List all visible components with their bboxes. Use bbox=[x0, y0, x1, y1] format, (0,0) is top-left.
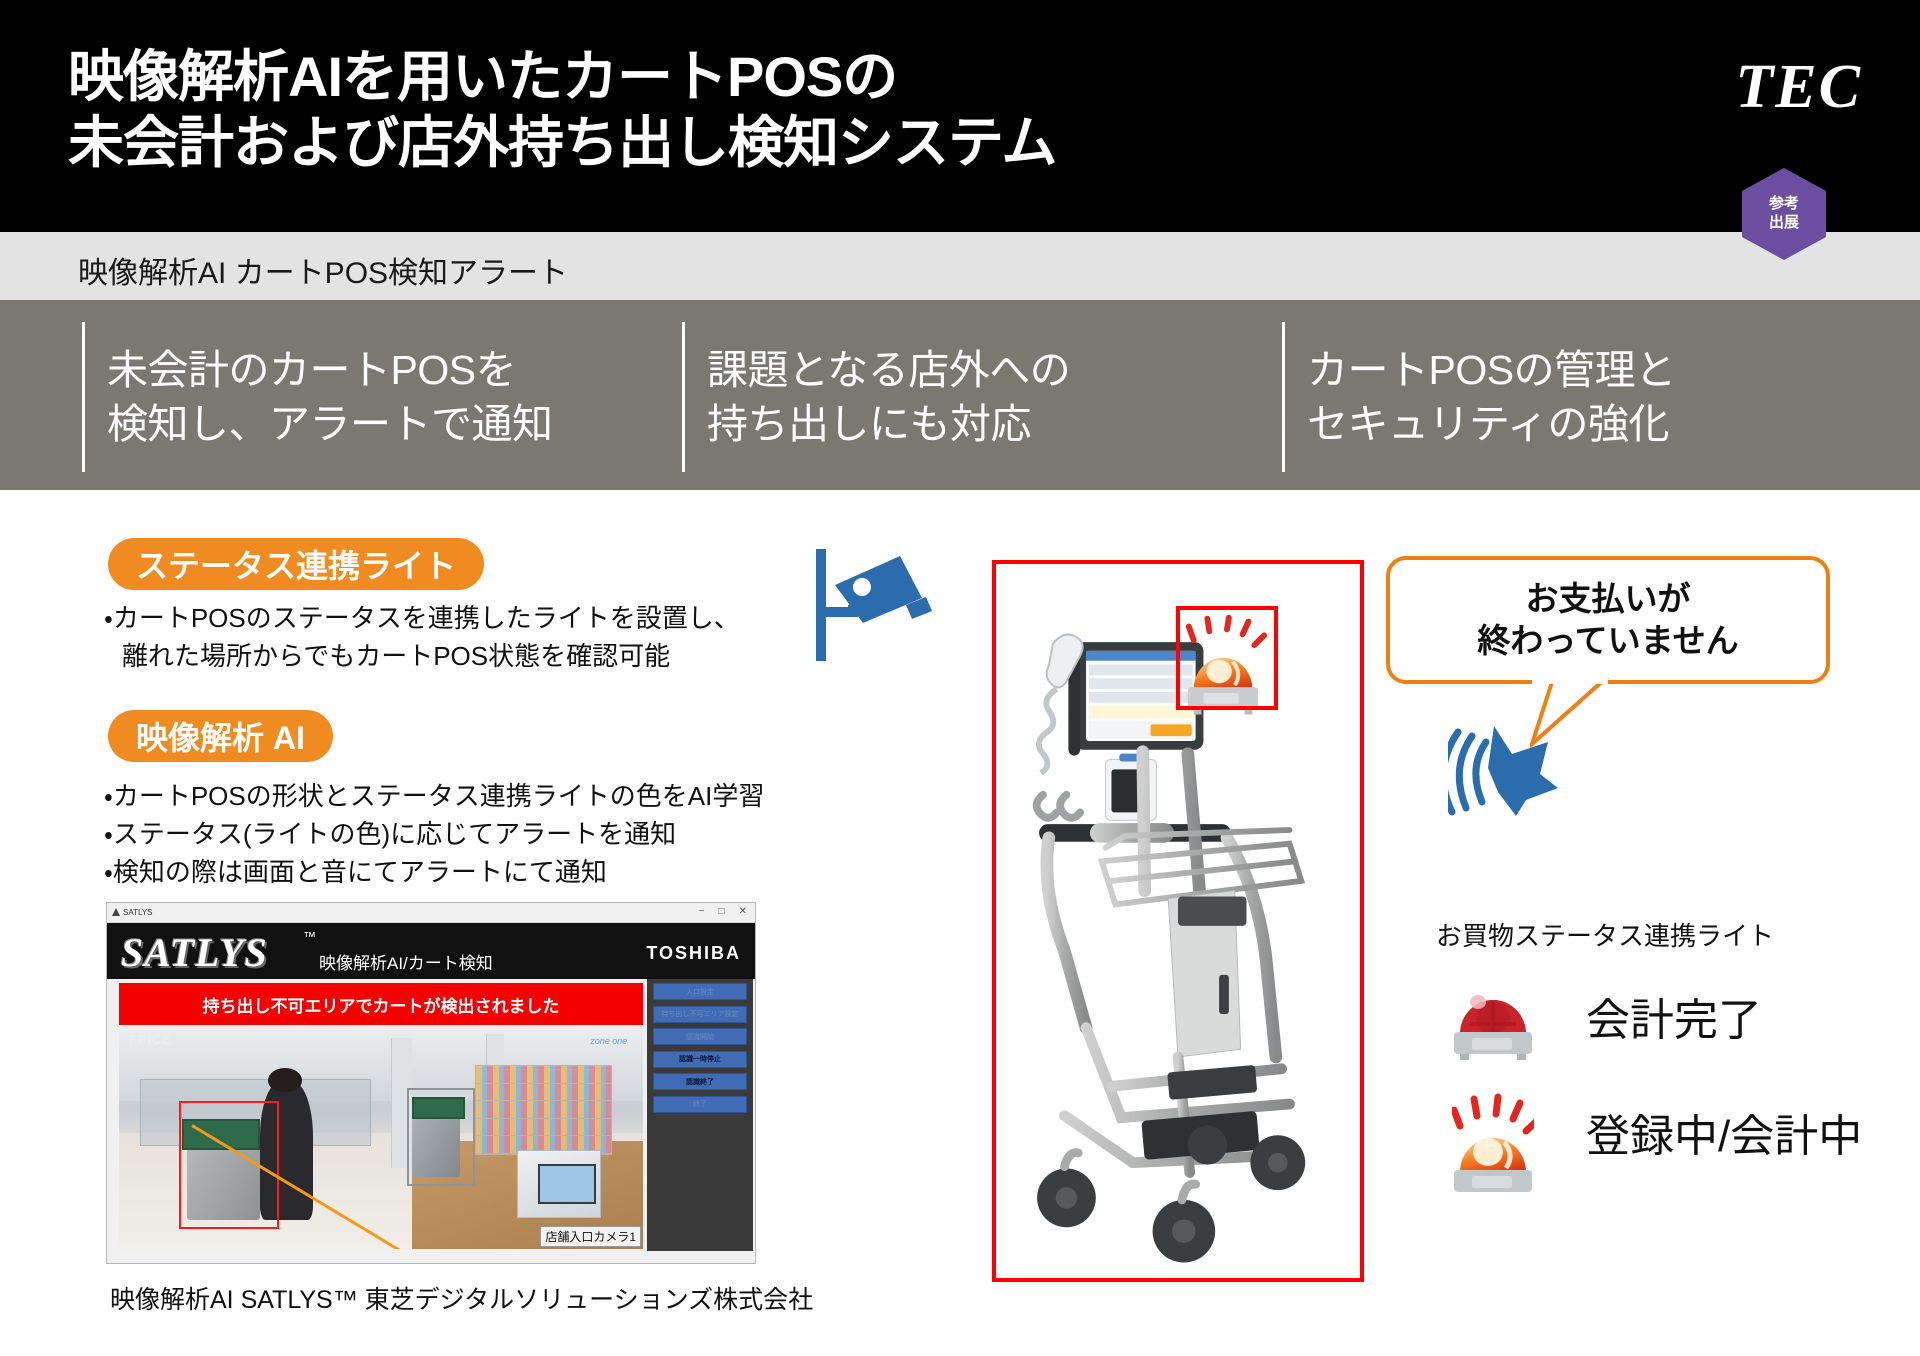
recognition-pause-button[interactable]: 認識一時停止 bbox=[653, 1051, 747, 1068]
satlys-titlebar-label: SATLYS bbox=[123, 908, 153, 917]
bullet-item: ・カートPOSの形状とステータス連携ライトの色をAI学習 bbox=[104, 778, 864, 816]
restricted-area-setting-button[interactable]: 持ち出し不可エリア設定 bbox=[653, 1006, 747, 1023]
feature-3-line-1: カートPOSの管理と bbox=[1307, 343, 1882, 397]
exit-button[interactable]: 終了 bbox=[653, 1096, 747, 1113]
beacon-light-highlight-box bbox=[1176, 606, 1278, 710]
feature-column-2: 課題となる店外への 持ち出しにも対応 bbox=[682, 322, 1262, 472]
tec-logo: TEC bbox=[1735, 52, 1862, 123]
cart-pos-photo-frame bbox=[992, 560, 1364, 1282]
bullet-item: 離れた場所からでもカートPOS状態を確認可能 bbox=[104, 638, 784, 676]
maximize-icon[interactable]: □ bbox=[719, 906, 725, 917]
page-title: 映像解析AIを用いたカートPOSの 未会計および店外持ち出し検知システム bbox=[68, 44, 1056, 176]
beacon-on-icon bbox=[1452, 1088, 1534, 1176]
bubble-line-2: 終わっていません bbox=[1477, 620, 1738, 662]
detection-alert-banner: 持ち出し不可エリアでカートが検出されました bbox=[119, 983, 643, 1025]
bullet-item: ・カートPOSのステータスを連携したライトを設置し、 bbox=[104, 600, 784, 638]
close-icon[interactable]: ✕ bbox=[739, 906, 747, 917]
trademark-symbol: ™ bbox=[303, 929, 316, 944]
slide-root: 映像解析AIを用いたカートPOSの 未会計および店外持ち出し検知システム TEC… bbox=[0, 0, 1920, 1356]
bullet-item: ・検知の際は画面と音にてアラートにて通知 bbox=[104, 854, 864, 892]
satlys-control-buttons[interactable]: 入口設定 持ち出し不可エリア設定 認識開始 認識一時停止 認識終了 終了 bbox=[653, 983, 747, 1118]
feature-1-line-2: 検知し、アラートで通知 bbox=[107, 397, 662, 451]
recognition-stop-button[interactable]: 認識終了 bbox=[653, 1073, 747, 1090]
satlys-brand-bar: SATLYS ™ 映像解析AI/カート検知 TOSHIBA bbox=[107, 923, 755, 979]
entrance-setting-button[interactable]: 入口設定 bbox=[653, 983, 747, 1000]
satlys-logo: SATLYS bbox=[121, 929, 268, 976]
satlys-subtitle: 映像解析AI/カート検知 bbox=[319, 949, 493, 974]
camera-video-feed: FFICE zone one 店舗入口カメラ1 bbox=[119, 1025, 643, 1249]
status-light-bullets: ・カートPOSのステータスを連携したライトを設置し、 離れた場所からでもカートP… bbox=[104, 600, 784, 676]
satlys-application-window[interactable]: SATLYS − □ ✕ SATLYS ™ 映像解析AI/カート検知 TOSHI… bbox=[106, 902, 756, 1264]
toshiba-logo: TOSHIBA bbox=[646, 943, 741, 964]
beacon-off-icon bbox=[1452, 972, 1534, 1060]
feature-banner: 未会計のカートPOSを 検知し、アラートで通知 課題となる店外への 持ち出しにも… bbox=[0, 300, 1920, 490]
bubble-line-1: お支払いが bbox=[1526, 578, 1691, 620]
window-controls[interactable]: − □ ✕ bbox=[699, 906, 747, 917]
zone-sign-label: zone one bbox=[590, 1036, 627, 1046]
voice-alert-bubble: お支払いが 終わっていません bbox=[1386, 556, 1830, 684]
satlys-caption: 映像解析AI SATLYS™ 東芝デジタルソリューションズ株式会社 bbox=[110, 1280, 813, 1316]
office-sign-label: FFICE bbox=[129, 1032, 172, 1047]
subtitle-bar: 映像解析AI カートPOS検知アラート bbox=[0, 232, 1920, 300]
badge-line-2: 出展 bbox=[1769, 214, 1799, 233]
recognition-start-button[interactable]: 認識開始 bbox=[653, 1028, 747, 1045]
satlys-titlebar: SATLYS − □ ✕ bbox=[107, 903, 755, 923]
camera-name-label: 店舗入口カメラ1 bbox=[540, 1226, 641, 1247]
video-ai-bullets: ・カートPOSの形状とステータス連携ライトの色をAI学習 ・ステータス(ライトの… bbox=[104, 778, 864, 892]
badge-line-1: 参考 bbox=[1769, 195, 1799, 214]
app-icon bbox=[112, 908, 120, 916]
person-head bbox=[268, 1068, 302, 1093]
feature-2-line-1: 課題となる店外への bbox=[707, 343, 1262, 397]
legend-item-in-progress: 登録中/会計中 bbox=[1452, 1088, 1862, 1176]
speaker-icon bbox=[1448, 716, 1578, 822]
video-ai-pill: 映像解析 AI bbox=[108, 710, 333, 762]
security-camera-icon bbox=[808, 545, 938, 670]
tracking-bounding-box bbox=[407, 1088, 475, 1187]
feature-column-1: 未会計のカートPOSを 検知し、アラートで通知 bbox=[82, 322, 662, 472]
product-shelf bbox=[475, 1065, 611, 1155]
feature-column-3: カートPOSの管理と セキュリティの強化 bbox=[1282, 322, 1882, 472]
legend-item-paid: 会計完了 bbox=[1452, 972, 1762, 1060]
status-light-legend-title: お買物ステータス連携ライト bbox=[1436, 916, 1774, 953]
pos-screen bbox=[538, 1164, 596, 1204]
status-light-pill: ステータス連携ライト bbox=[108, 538, 484, 590]
subtitle-text: 映像解析AI カートPOS検知アラート bbox=[78, 248, 568, 292]
bullet-item: ・ステータス(ライトの色)に応じてアラートを通知 bbox=[104, 816, 864, 854]
feature-3-line-2: セキュリティの強化 bbox=[1307, 397, 1882, 451]
minimize-icon[interactable]: − bbox=[699, 906, 705, 917]
detection-bounding-box bbox=[179, 1101, 279, 1229]
feature-2-line-2: 持ち出しにも対応 bbox=[707, 397, 1262, 451]
page-header: 映像解析AIを用いたカートPOSの 未会計および店外持ち出し検知システム TEC bbox=[0, 0, 1920, 232]
feature-1-line-1: 未会計のカートPOSを bbox=[107, 343, 662, 397]
legend-label-paid: 会計完了 bbox=[1586, 984, 1762, 1048]
legend-label-in-progress: 登録中/会計中 bbox=[1586, 1100, 1862, 1164]
